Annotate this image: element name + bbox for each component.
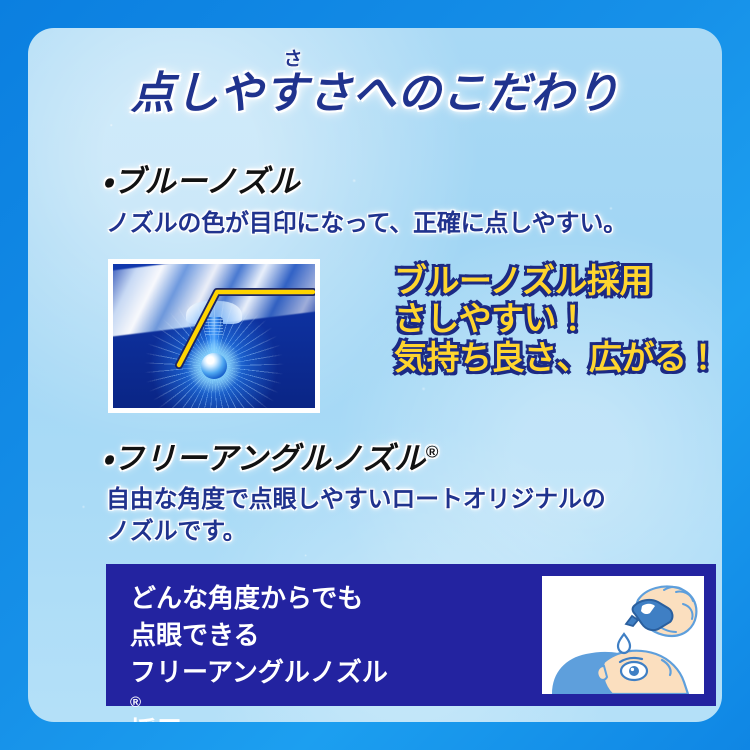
section-heading-label-1: ブルーノズル xyxy=(113,164,300,199)
title-ruby: さ xyxy=(28,50,722,69)
section-heading-label-2: フリーアングルノズル xyxy=(113,441,426,476)
eye-drop-illustration xyxy=(542,576,704,694)
page-title: 点しやすさへのこだわり xyxy=(28,71,722,118)
bottom-panel-line-2: 点眼できる xyxy=(130,617,388,654)
inner-panel: さ 点しやすさへのこだわり ・ブルーノズル ノズルの色が目印になって、正確に点し… xyxy=(28,28,722,722)
bottom-panel-line-3-pre: フリーアングルノズル xyxy=(130,654,388,691)
section-description-2-line-1: 自由な角度で点眼しやすいロートオリジナルの xyxy=(106,484,606,516)
registered-mark-heading: ® xyxy=(426,443,439,462)
eye-iris xyxy=(629,666,639,676)
poster-root: さ 点しやすさへのこだわり ・ブルーノズル ノズルの色が目印になって、正確に点し… xyxy=(0,0,750,750)
section-description-2: 自由な角度で点眼しやすいロートオリジナルの ノズルです。 xyxy=(106,484,606,547)
bottom-feature-panel: どんな角度からでも 点眼できる フリーアングルノズル®採用 xyxy=(106,564,716,706)
section-description-1: ノズルの色が目印になって、正確に点しやすい。 xyxy=(106,208,627,240)
registered-mark-panel: ® xyxy=(130,692,388,713)
bottom-panel-line-3: フリーアングルノズル®採用 xyxy=(130,654,388,722)
section-description-2-line-2: ノズルです。 xyxy=(106,516,606,548)
callout-line-3: 気持ち良さ、広がる！ xyxy=(394,339,719,377)
bottom-panel-line-3-post: 採用 xyxy=(130,713,388,722)
callout-leader-line xyxy=(113,264,315,408)
bottom-panel-line-1: どんな角度からでも xyxy=(130,580,388,617)
eye-highlight xyxy=(631,668,634,671)
eye-drop-illustration-box xyxy=(542,576,704,694)
section-heading-blue-nozzle: ・ブルーノズル xyxy=(102,156,300,201)
callout-line-2: さしやすい！ xyxy=(394,300,719,338)
title-block: さ 点しやすさへのこだわり xyxy=(28,50,722,118)
bullet-marker-2: ・ xyxy=(102,441,113,476)
bullet-marker-1: ・ xyxy=(102,164,113,199)
ear-shape xyxy=(597,666,607,680)
bottom-panel-text: どんな角度からでも 点眼できる フリーアングルノズル®採用 xyxy=(130,580,388,722)
product-photo xyxy=(113,264,315,408)
section-heading-free-angle-nozzle: ・フリーアングルノズル® xyxy=(102,433,439,478)
product-photo-frame xyxy=(108,259,320,413)
callout-line-1: ブルーノズル採用 xyxy=(394,262,719,300)
callout-text: ブルーノズル採用 さしやすい！ 気持ち良さ、広がる！ xyxy=(394,262,719,377)
